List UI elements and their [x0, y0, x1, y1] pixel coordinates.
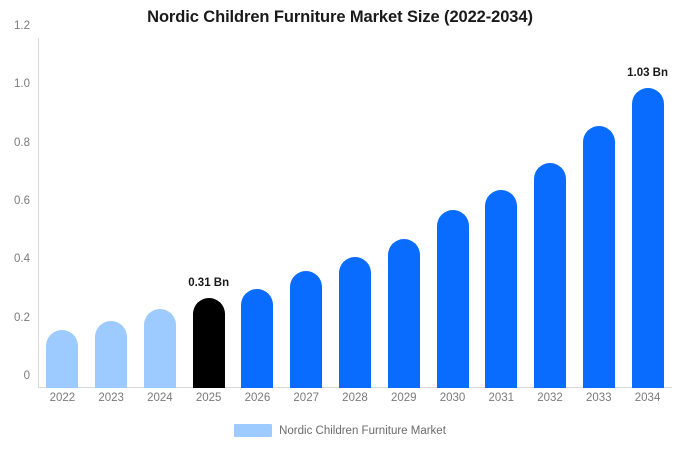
- x-axis-tick-2033: 2033: [574, 392, 623, 404]
- bar-2024[interactable]: [144, 309, 176, 388]
- bar-slot: [233, 38, 282, 388]
- legend-label: Nordic Children Furniture Market: [279, 425, 446, 437]
- y-axis-tick: 0: [24, 370, 30, 382]
- y-axis-tick: 1.2: [14, 20, 30, 32]
- bar-2028[interactable]: [339, 257, 371, 388]
- bar-slot: [574, 38, 623, 388]
- x-axis-tick-2022: 2022: [38, 392, 87, 404]
- y-axis-tick: 0.8: [14, 137, 30, 149]
- y-axis-tick: 0.2: [14, 312, 30, 324]
- chart-title: Nordic Children Furniture Market Size (2…: [0, 8, 680, 27]
- bar-slot: [477, 38, 526, 388]
- bar-2029[interactable]: [388, 239, 420, 388]
- x-axis-tick-2028: 2028: [331, 392, 380, 404]
- x-axis-tick-2024: 2024: [136, 392, 185, 404]
- legend-item[interactable]: Nordic Children Furniture Market: [234, 424, 446, 437]
- bar-value-label-2025: 0.31 Bn: [188, 277, 229, 289]
- bar-series: 0.31 Bn1.03 Bn: [38, 38, 672, 388]
- bar-slot: 0.31 Bn: [184, 38, 233, 388]
- y-axis-tick: 0.6: [14, 195, 30, 207]
- chart-container: Nordic Children Furniture Market Size (2…: [0, 0, 680, 450]
- legend-swatch-icon: [234, 424, 272, 437]
- bar-2033[interactable]: [583, 126, 615, 389]
- bar-slot: 1.03 Bn: [623, 38, 672, 388]
- y-axis-tick: 1.0: [14, 78, 30, 90]
- bar-2030[interactable]: [437, 210, 469, 388]
- bar-slot: [38, 38, 87, 388]
- x-axis-tick-2029: 2029: [379, 392, 428, 404]
- x-axis-tick-2023: 2023: [87, 392, 136, 404]
- bar-2032[interactable]: [534, 163, 566, 388]
- x-axis-tick-2027: 2027: [282, 392, 331, 404]
- bar-2034[interactable]: [632, 88, 664, 388]
- plot-area: 00.20.40.60.81.01.2 0.31 Bn1.03 Bn: [38, 38, 672, 388]
- x-axis-tick-2034: 2034: [623, 392, 672, 404]
- y-axis-tick: 0.4: [14, 253, 30, 265]
- bar-2031[interactable]: [485, 190, 517, 388]
- x-axis-tick-labels: 2022202320242025202620272028202920302031…: [38, 392, 672, 404]
- chart-legend: Nordic Children Furniture Market: [0, 424, 680, 437]
- bar-slot: [136, 38, 185, 388]
- bar-slot: [331, 38, 380, 388]
- bar-slot: [526, 38, 575, 388]
- bar-value-label-2034: 1.03 Bn: [627, 67, 668, 79]
- bar-2022[interactable]: [46, 330, 78, 388]
- bar-2027[interactable]: [290, 271, 322, 388]
- bar-2026[interactable]: [241, 289, 273, 388]
- bar-slot: [428, 38, 477, 388]
- bar-slot: [282, 38, 331, 388]
- x-axis-tick-2032: 2032: [526, 392, 575, 404]
- x-axis-tick-2025: 2025: [184, 392, 233, 404]
- x-axis-tick-2026: 2026: [233, 392, 282, 404]
- bar-slot: [379, 38, 428, 388]
- bar-2025[interactable]: [193, 298, 225, 388]
- bar-slot: [87, 38, 136, 388]
- x-axis-tick-2031: 2031: [477, 392, 526, 404]
- x-axis-tick-2030: 2030: [428, 392, 477, 404]
- bar-2023[interactable]: [95, 321, 127, 388]
